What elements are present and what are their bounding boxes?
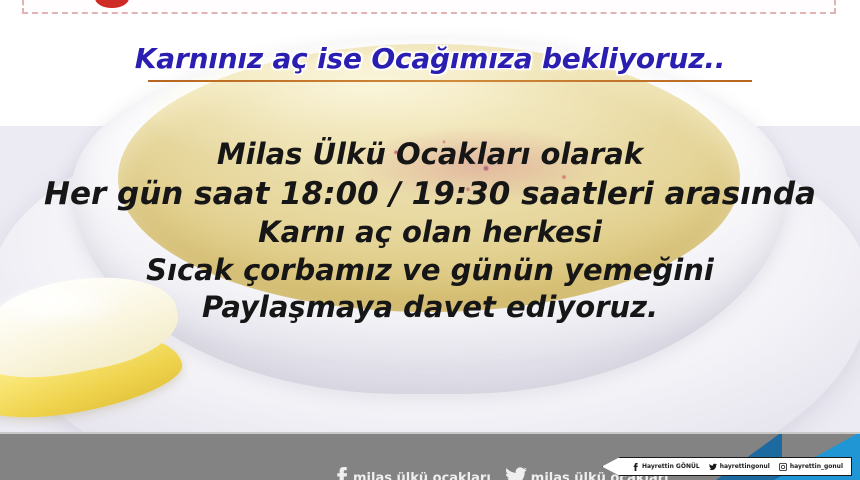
- footer-bar: milas ülkü ocakları milas ülkü ocakları …: [0, 432, 860, 480]
- top-dashed-frame: [22, 0, 836, 14]
- credit-twitter[interactable]: hayrettingonul: [709, 463, 770, 471]
- poster-message: Milas Ülkü Ocakları olarak Her gün saat …: [0, 136, 860, 327]
- message-line-3: Karnı aç olan herkesi: [0, 214, 860, 252]
- message-line-4: Sıcak çorbamız ve günün yemeğini: [0, 252, 860, 290]
- headline-underline: [148, 80, 752, 82]
- credit-ribbon: Hayrettin GÖNÜL hayrettingonul hayrettin…: [602, 457, 852, 476]
- facebook-icon: [332, 467, 349, 480]
- poster-headline: Karnınız aç ise Ocağımıza bekliyoruz..: [0, 42, 860, 75]
- credit-facebook-handle: Hayrettin GÖNÜL: [642, 463, 700, 470]
- facebook-icon: [631, 463, 639, 471]
- credit-instagram[interactable]: hayrettin_gonul: [779, 463, 843, 471]
- message-line-2: Her gün saat 18:00 / 19:30 saatleri aras…: [0, 174, 860, 214]
- instagram-icon: [779, 463, 787, 471]
- message-line-5: Paylaşmaya davet ediyoruz.: [0, 289, 860, 327]
- twitter-icon: [505, 467, 527, 480]
- credit-facebook[interactable]: Hayrettin GÖNÜL: [631, 463, 700, 471]
- social-facebook[interactable]: milas ülkü ocakları: [332, 467, 491, 480]
- message-line-1: Milas Ülkü Ocakları olarak: [0, 136, 860, 174]
- social-facebook-handle: milas ülkü ocakları: [353, 472, 491, 480]
- credit-instagram-handle: hayrettin_gonul: [790, 463, 843, 470]
- poster-stage: Karnınız aç ise Ocağımıza bekliyoruz.. M…: [0, 0, 860, 480]
- twitter-icon: [709, 463, 717, 471]
- credit-twitter-handle: hayrettingonul: [720, 463, 770, 470]
